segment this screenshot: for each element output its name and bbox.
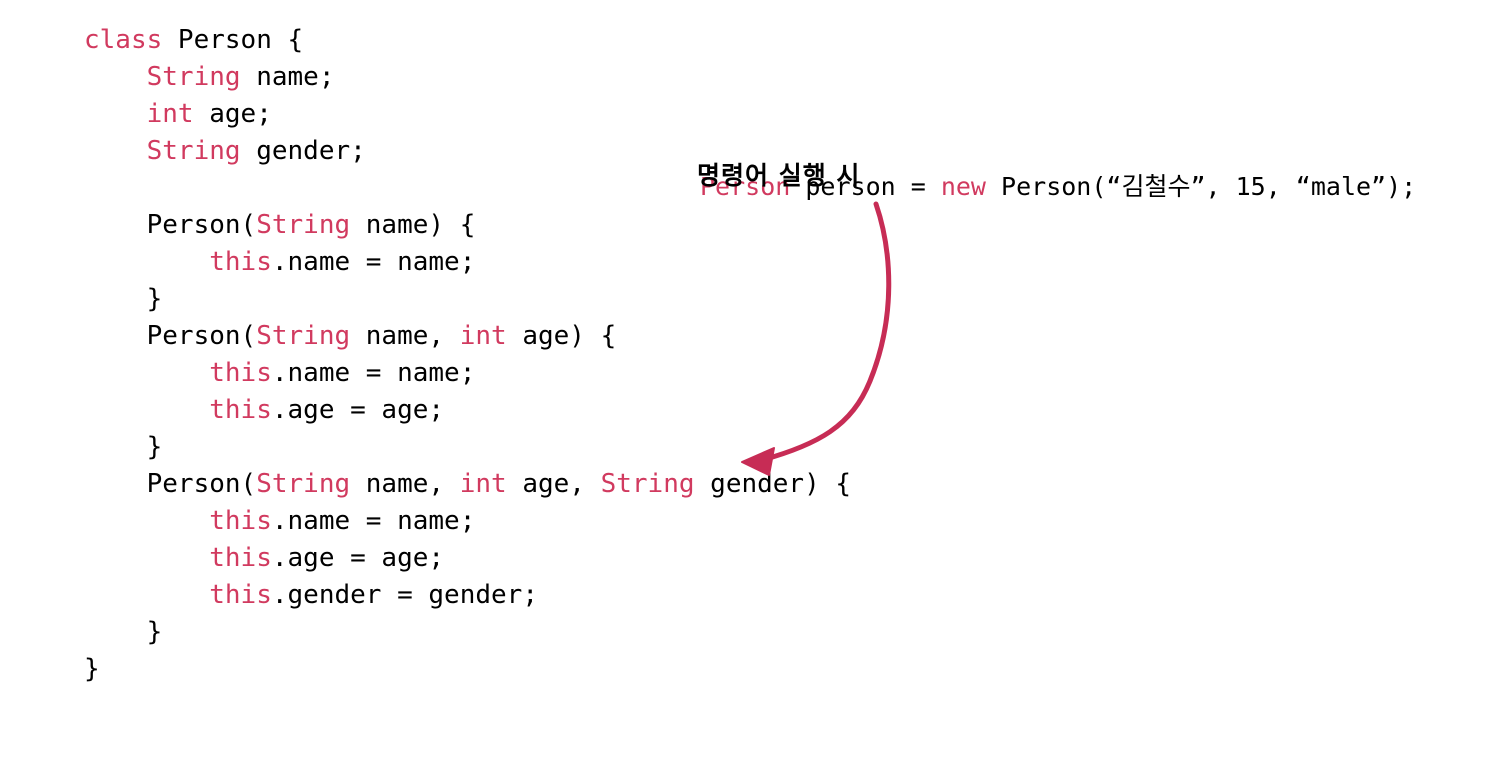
code-line: Person(String name, int age) { (84, 318, 851, 355)
code-indent (84, 99, 147, 129)
code-indent (84, 136, 147, 166)
code-keyword: this (209, 543, 272, 573)
code-keyword: this (209, 247, 272, 277)
code-indent (84, 210, 147, 240)
code-text: name) { (350, 210, 475, 240)
code-keyword: this (209, 580, 272, 610)
code-text: Person( (147, 469, 257, 499)
code-text: name; (241, 62, 335, 92)
code-text: .name = name; (272, 247, 476, 277)
code-line: class Person { (84, 22, 851, 59)
code-text: Person(“김철수”, 15, “male”); (986, 172, 1416, 201)
code-line: this.age = age; (84, 540, 851, 577)
code-line: } (84, 651, 851, 688)
code-keyword: String (147, 62, 241, 92)
code-keyword: this (209, 358, 272, 388)
code-indent (84, 469, 147, 499)
code-text: gender) { (695, 469, 852, 499)
code-text: } (147, 617, 163, 647)
code-text: .age = age; (272, 395, 444, 425)
code-keyword: new (941, 172, 986, 201)
code-indent (84, 580, 209, 610)
code-indent (84, 395, 209, 425)
korean-caption: 명령어 실행 시 (697, 156, 860, 192)
code-indent (84, 62, 147, 92)
code-text: Person { (162, 25, 303, 55)
code-text: .name = name; (272, 506, 476, 536)
code-keyword: String (256, 210, 350, 240)
code-keyword: this (209, 506, 272, 536)
code-line: } (84, 614, 851, 651)
code-text: .gender = gender; (272, 580, 538, 610)
code-text: .name = name; (272, 358, 476, 388)
code-text: .age = age; (272, 543, 444, 573)
code-keyword: int (460, 469, 507, 499)
code-keyword: String (256, 321, 350, 351)
code-keyword: String (601, 469, 695, 499)
code-keyword: class (84, 25, 162, 55)
code-line: String name; (84, 59, 851, 96)
code-indent (84, 506, 209, 536)
code-keyword: int (460, 321, 507, 351)
code-line: this.age = age; (84, 392, 851, 429)
code-text: age) { (507, 321, 617, 351)
code-line: this.gender = gender; (84, 577, 851, 614)
code-indent (84, 284, 147, 314)
code-indent (84, 543, 209, 573)
code-keyword: int (147, 99, 194, 129)
code-line: this.name = name; (84, 503, 851, 540)
code-text: name, (350, 469, 460, 499)
code-indent (84, 617, 147, 647)
code-line: } (84, 429, 851, 466)
code-text: } (84, 654, 100, 684)
code-text: } (147, 432, 163, 462)
code-text: gender; (241, 136, 366, 166)
code-indent (84, 321, 147, 351)
code-keyword: String (147, 136, 241, 166)
code-line: this.name = name; (84, 355, 851, 392)
code-text: Person( (147, 321, 257, 351)
slide-canvas: class Person { String name; int age; Str… (0, 0, 1488, 766)
code-keyword: String (256, 469, 350, 499)
code-line: Person(String name, int age, String gend… (84, 466, 851, 503)
code-indent (84, 432, 147, 462)
code-text: Person( (147, 210, 257, 240)
code-keyword: this (209, 395, 272, 425)
code-line: } (84, 281, 851, 318)
code-text: } (147, 284, 163, 314)
code-text: age, (507, 469, 601, 499)
code-text: name, (350, 321, 460, 351)
code-indent (84, 247, 209, 277)
code-text: age; (194, 99, 272, 129)
code-indent (84, 358, 209, 388)
